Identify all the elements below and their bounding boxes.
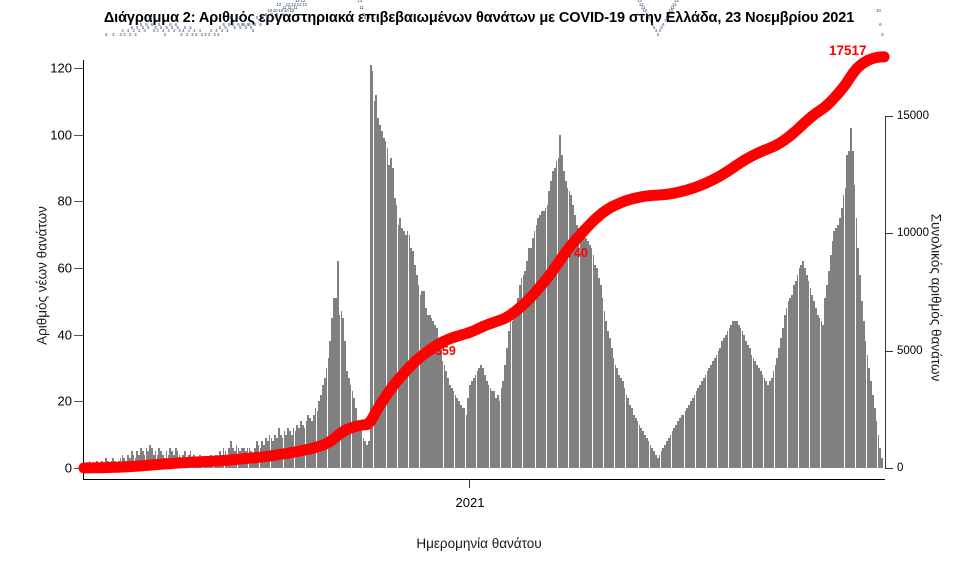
bar-value-label: 4 <box>221 29 223 33</box>
bar-value-label: 3 <box>112 33 114 37</box>
y2-tick-label: 5000 <box>897 345 923 357</box>
y-tick-label: 60 <box>28 261 72 276</box>
y2-tick-mark <box>885 233 893 234</box>
plot-area: 3334343543546546576454654354654654345345… <box>83 48 885 488</box>
bar-value-label: 6 <box>259 23 261 27</box>
y2-tick-label: 10000 <box>897 227 929 239</box>
x-tick-label-2021: 2021 <box>420 495 520 510</box>
y2-tick-label: 15000 <box>897 110 929 122</box>
bar-value-label: 13 <box>674 0 679 3</box>
y2-tick-mark <box>885 468 893 469</box>
bar-value-label: 6 <box>228 23 230 27</box>
bar-value-label: 5 <box>184 26 186 30</box>
bar-value-label: 3 <box>134 33 136 37</box>
x-axis-title: Ημερομηνία θανάτου <box>229 536 729 551</box>
bar-value-label: 5 <box>189 26 191 30</box>
bar-value-label: 8 <box>368 16 370 20</box>
y2-tick-mark <box>885 116 893 117</box>
y-tick-label: 100 <box>28 127 72 142</box>
annotation-total-early: 4359 <box>428 344 456 358</box>
bar-value-label: 12 <box>277 3 282 7</box>
bar-value-label: 6 <box>151 23 153 27</box>
bar-value-label: 6 <box>254 23 256 27</box>
bar-value-label: 3 <box>881 33 883 37</box>
bar-value-label: 4 <box>252 29 254 33</box>
chart-title: Διάγραμμα 2: Αριθμός εργαστηριακά επιβεβ… <box>0 10 958 26</box>
y2-tick-mark <box>885 351 893 352</box>
bar-value-label: 13 <box>357 0 362 3</box>
bar-value-label: 4 <box>226 29 228 33</box>
bar-value-label: 3 <box>129 33 131 37</box>
bar-value-label: 3 <box>105 33 107 37</box>
y-tick-mark <box>74 68 83 69</box>
y-tick-label: 20 <box>28 394 72 409</box>
bar-value-label: 3 <box>200 33 202 37</box>
y-axis-right-line <box>885 116 886 468</box>
y-tick-mark <box>74 401 83 402</box>
bar-value-label: 8 <box>230 16 232 20</box>
bar-value-label: 3 <box>217 33 219 37</box>
y-tick-label: 120 <box>28 61 72 76</box>
y-axis-right-title: Συνολικός αριθμός θανάτων <box>929 168 944 428</box>
bar-value-label: 4 <box>156 29 158 33</box>
chart-root: Διάγραμμα 2: Αριθμός εργαστηριακά επιβεβ… <box>0 0 958 567</box>
bar-value-label: 4 <box>143 29 145 33</box>
y-tick-mark <box>74 135 83 136</box>
bar-value-label: 3 <box>164 33 166 37</box>
bar <box>83 465 85 468</box>
y-tick-label: 0 <box>28 461 72 476</box>
bar-value-label: 3 <box>123 33 125 37</box>
bar-value-label: 4 <box>173 29 175 33</box>
annotation-total-mid: 8740 <box>560 246 588 260</box>
bar-value-label: 7 <box>263 19 265 23</box>
bar-value-label: 8 <box>267 16 269 20</box>
bar-value-label: 3 <box>195 33 197 37</box>
bar-series: 3334343543546546576454654354654654345345… <box>83 48 885 468</box>
bar-value-label: 11 <box>359 6 363 10</box>
bar <box>90 465 92 468</box>
y-tick-label: 40 <box>28 327 72 342</box>
bar-value-label: 4 <box>167 29 169 33</box>
y2-tick-label: 0 <box>897 462 903 474</box>
y-tick-mark <box>74 335 83 336</box>
bar-value-label: 5 <box>147 26 149 30</box>
y-axis-left-title: Αριθμός νέων θανάτων <box>35 156 50 396</box>
bar-value-label: 12 <box>302 3 307 7</box>
bar-value-label: 4 <box>138 29 140 33</box>
bar-value-label: 10 <box>876 9 881 13</box>
y-tick-mark <box>74 268 83 269</box>
y-tick-mark <box>74 201 83 202</box>
y-tick-mark <box>74 468 83 469</box>
bar-value-label: 5 <box>234 26 236 30</box>
y-tick-label: 80 <box>28 194 72 209</box>
bar-value-label: 3 <box>204 33 206 37</box>
annotation-total-end: 17517 <box>829 43 867 58</box>
bar-value-label: 4 <box>210 29 212 33</box>
bar-value-label: 8 <box>272 16 274 20</box>
bar-value-label: 6 <box>879 23 881 27</box>
bar <box>881 458 883 468</box>
